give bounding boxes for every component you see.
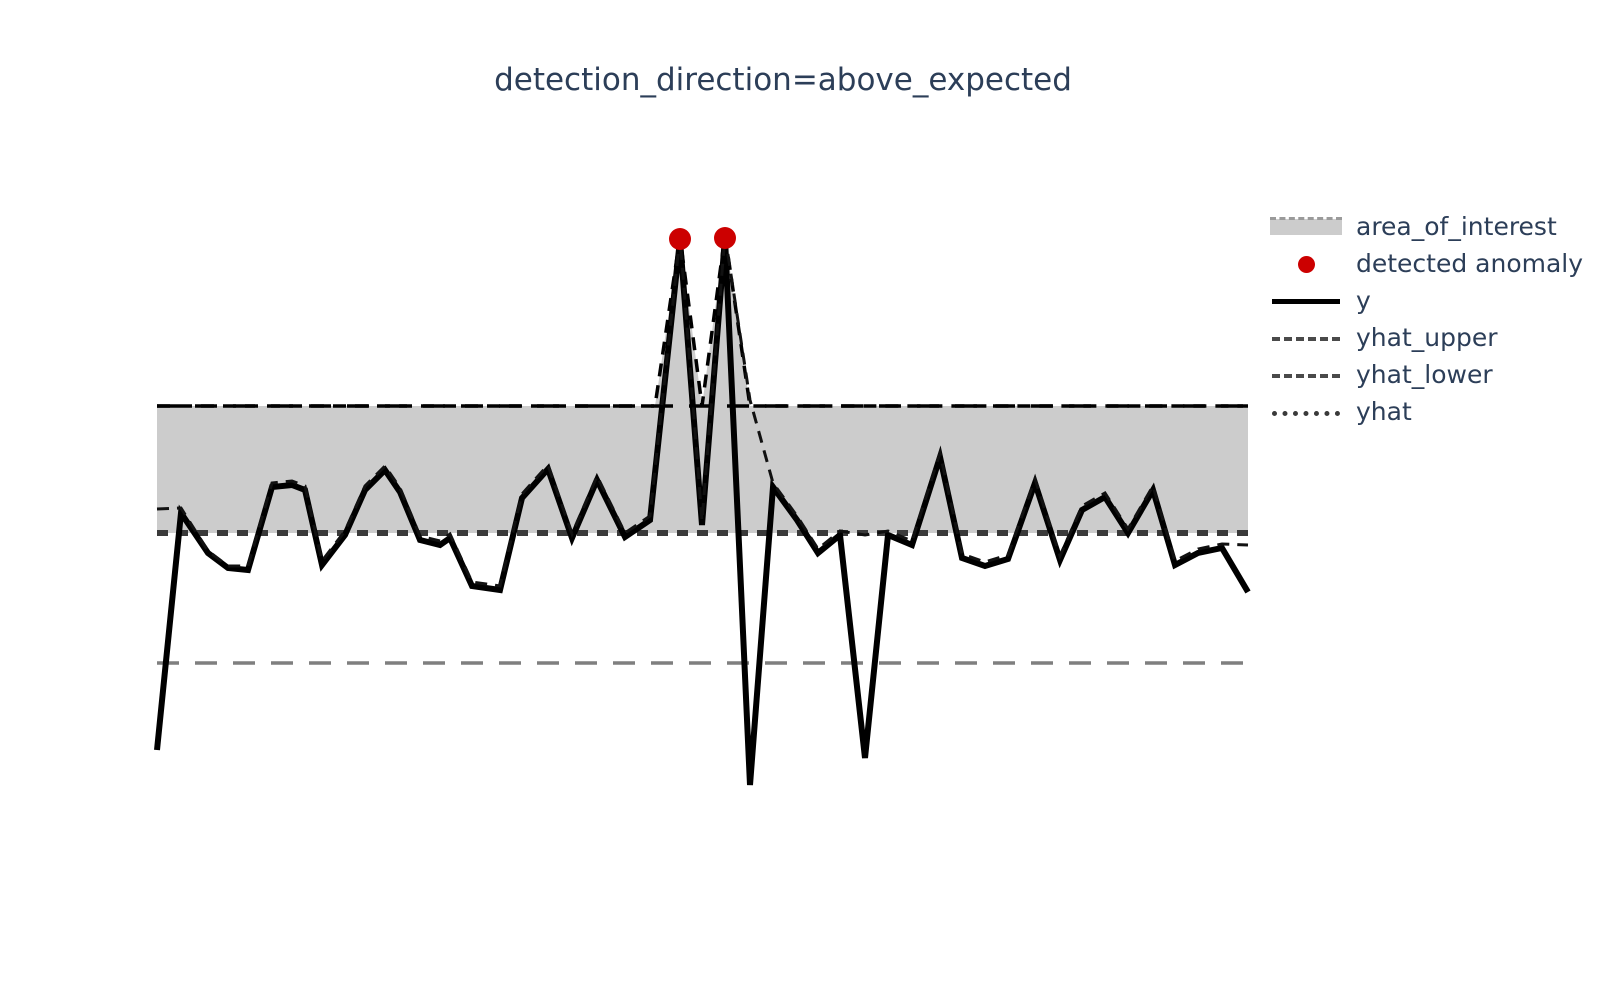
dashed-line-icon [1270, 324, 1342, 352]
legend-item-yhat[interactable]: yhat [1270, 393, 1590, 430]
chart-figure: detection_direction=above_expected area_… [0, 0, 1600, 1000]
area-swatch-icon [1270, 213, 1342, 241]
legend-item-y[interactable]: y [1270, 282, 1590, 319]
legend-item-yhat-upper[interactable]: yhat_upper [1270, 319, 1590, 356]
legend-label-yhat-upper: yhat_upper [1356, 325, 1498, 350]
legend-item-detected-anomaly[interactable]: detected anomaly [1270, 245, 1590, 282]
plot-area [0, 0, 1600, 1000]
solid-line-icon [1270, 287, 1342, 315]
legend-label-area-of-interest: area_of_interest [1356, 214, 1557, 239]
anomaly-marker-1[interactable] [669, 228, 691, 250]
chart-legend: area_of_interest detected anomaly y yhat… [1270, 208, 1590, 430]
detected-anomaly-markers [669, 227, 736, 250]
dotted-line-icon [1270, 398, 1342, 426]
legend-label-yhat: yhat [1356, 399, 1412, 424]
red-dot-icon [1270, 250, 1342, 278]
legend-label-detected-anomaly: detected anomaly [1356, 251, 1583, 276]
legend-label-y: y [1356, 288, 1371, 313]
legend-item-yhat-lower[interactable]: yhat_lower [1270, 356, 1590, 393]
anomaly-marker-2[interactable] [714, 227, 736, 249]
dashed-line-icon-2 [1270, 361, 1342, 389]
legend-label-yhat-lower: yhat_lower [1356, 362, 1493, 387]
legend-item-area-of-interest[interactable]: area_of_interest [1270, 208, 1590, 245]
